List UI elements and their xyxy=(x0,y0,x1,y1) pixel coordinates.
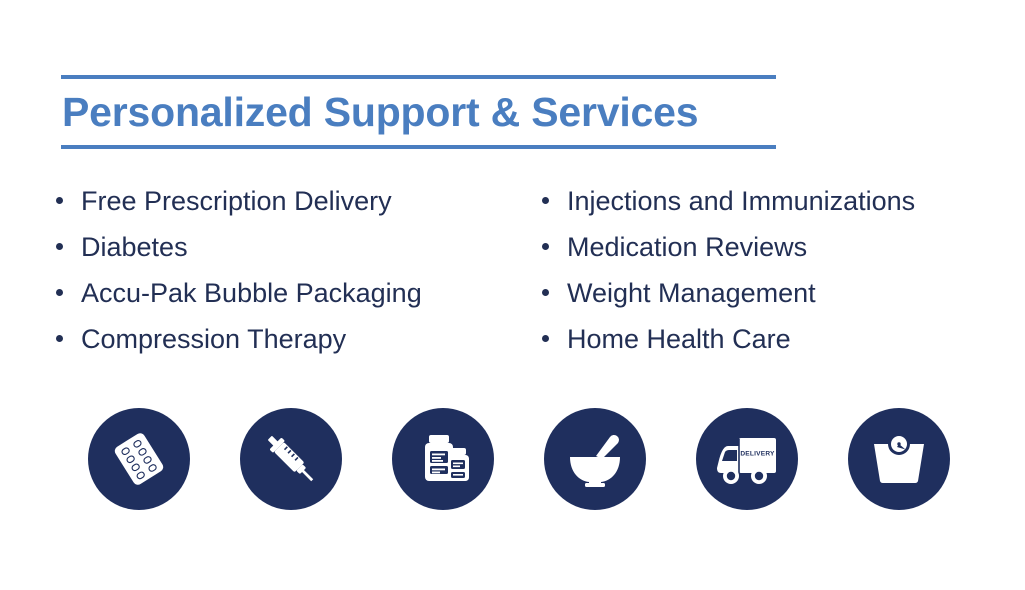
service-label: Injections and Immunizations xyxy=(567,186,915,216)
services-column-left: Free Prescription Delivery Diabetes Accu… xyxy=(0,178,533,362)
page-title: Personalized Support & Services xyxy=(61,79,776,145)
list-item: Diabetes xyxy=(52,224,533,270)
mortar-pestle-icon xyxy=(564,428,626,490)
icon-badge-delivery-truck: DELIVERY xyxy=(696,408,798,510)
blister-pack-icon xyxy=(108,428,170,490)
bullet-dot-icon xyxy=(56,289,63,296)
icon-badge-pill-bottles xyxy=(392,408,494,510)
bullet-dot-icon xyxy=(542,289,549,296)
list-item: Home Health Care xyxy=(538,316,1025,362)
service-label: Medication Reviews xyxy=(567,232,807,262)
bullet-dot-icon xyxy=(56,243,63,250)
list-item: Medication Reviews xyxy=(538,224,1025,270)
list-item: Compression Therapy xyxy=(52,316,533,362)
service-label: Compression Therapy xyxy=(81,324,346,354)
service-label: Free Prescription Delivery xyxy=(81,186,392,216)
service-label: Weight Management xyxy=(567,278,816,308)
service-list-right: Injections and Immunizations Medication … xyxy=(538,178,1025,362)
title-rule-bottom xyxy=(61,145,776,149)
bullet-dot-icon xyxy=(56,197,63,204)
list-item: Accu-Pak Bubble Packaging xyxy=(52,270,533,316)
pill-bottles-icon xyxy=(413,429,473,489)
icon-badge-mortar-pestle xyxy=(544,408,646,510)
bullet-dot-icon xyxy=(542,335,549,342)
service-label: Accu-Pak Bubble Packaging xyxy=(81,278,422,308)
services-column-right: Injections and Immunizations Medication … xyxy=(533,178,1025,362)
icon-badge-blister-pack xyxy=(88,408,190,510)
page-title-block: Personalized Support & Services xyxy=(61,75,776,149)
services-lists: Free Prescription Delivery Diabetes Accu… xyxy=(0,178,1025,362)
icon-badge-syringe xyxy=(240,408,342,510)
delivery-truck-icon: DELIVERY xyxy=(714,430,780,488)
service-icons-row: DELIVERY xyxy=(88,408,950,510)
icon-badge-weight-scale xyxy=(848,408,950,510)
bullet-dot-icon xyxy=(542,243,549,250)
syringe-icon xyxy=(259,427,323,491)
truck-delivery-text: DELIVERY xyxy=(740,451,775,458)
list-item: Free Prescription Delivery xyxy=(52,178,533,224)
service-label: Home Health Care xyxy=(567,324,791,354)
weight-scale-icon xyxy=(870,430,928,488)
bullet-dot-icon xyxy=(56,335,63,342)
list-item: Weight Management xyxy=(538,270,1025,316)
service-list-left: Free Prescription Delivery Diabetes Accu… xyxy=(52,178,533,362)
slide-root: Personalized Support & Services Free Pre… xyxy=(0,0,1025,590)
bullet-dot-icon xyxy=(542,197,549,204)
service-label: Diabetes xyxy=(81,232,188,262)
list-item: Injections and Immunizations xyxy=(538,178,1025,224)
